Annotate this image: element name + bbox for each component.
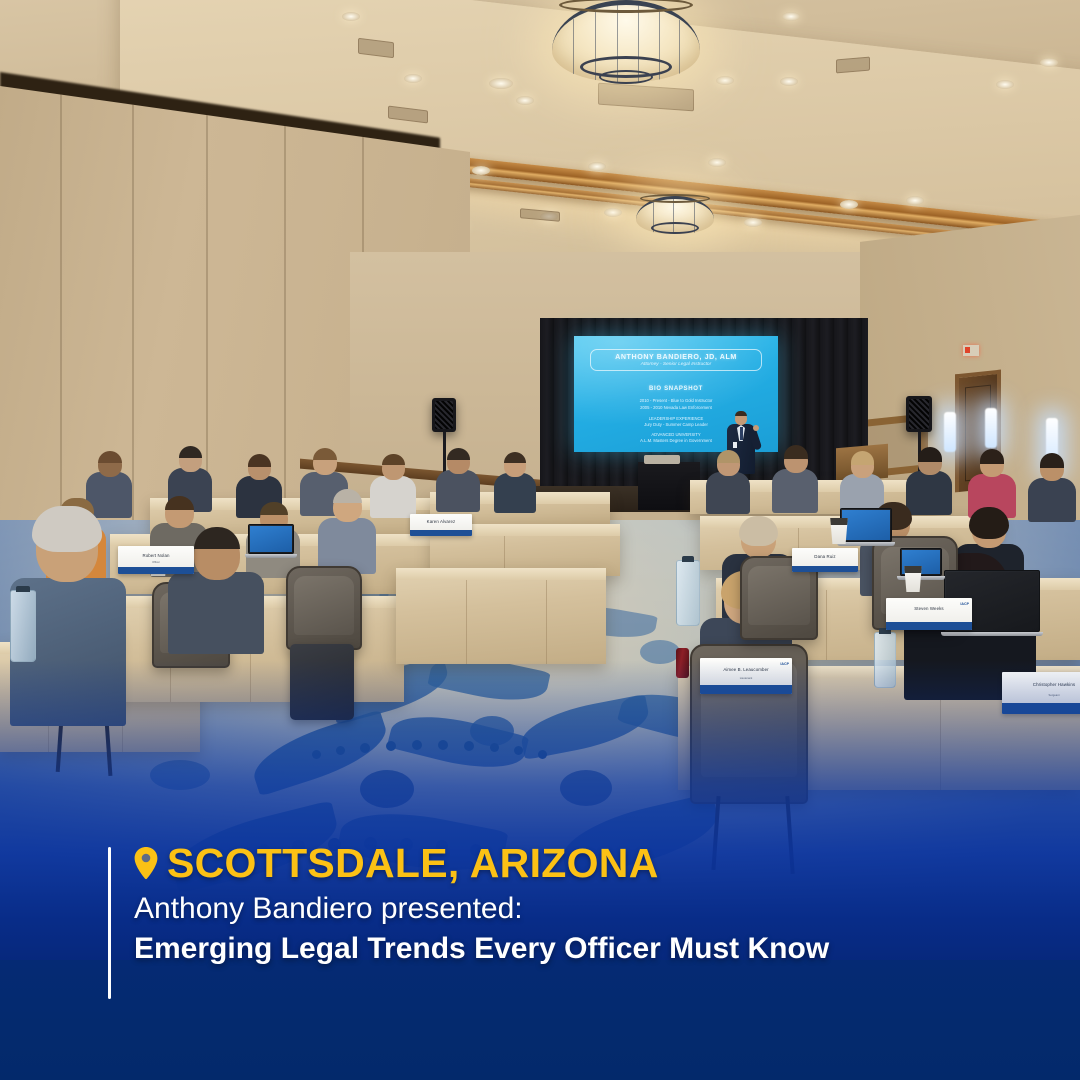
downlight-icon [782, 12, 800, 21]
name-tent-card: Karen Alvarez [410, 514, 472, 536]
downlight-icon [472, 166, 490, 175]
name-card-name: Karen Alvarez [410, 519, 472, 524]
slide-line: 2005 - 2010 Nevada Law Enforcement [574, 405, 778, 410]
location-row: SCOTTSDALE, ARIZONA [134, 843, 898, 884]
name-card-name: Robert Nolan [118, 553, 194, 558]
pa-speaker [906, 396, 932, 432]
downlight-icon [906, 196, 924, 205]
water-bottle [676, 560, 700, 626]
map-pin-icon [134, 847, 158, 880]
slide-title: ANTHONY BANDIERO, JD, ALM [593, 353, 759, 361]
attendee [318, 492, 376, 570]
attendee [772, 448, 818, 508]
attendee [840, 454, 884, 512]
accent-rule [108, 847, 111, 999]
banquet-table [396, 568, 606, 664]
attendee [1028, 456, 1076, 518]
slide-line: 2010 - Present - Blue to Gold Instructor [574, 398, 778, 403]
water-bottle [10, 590, 36, 662]
event-recap-card: ANTHONY BANDIERO, JD, ALM Attorney - Sen… [0, 0, 1080, 1080]
name-tent-card: IACP Christopher Hawkins Sergeant [1002, 672, 1080, 714]
name-card-name: Christopher Hawkins [1002, 682, 1080, 687]
pendant-top-ring [640, 194, 710, 203]
pa-speaker [432, 398, 456, 432]
wall-sconce-icon [944, 412, 956, 452]
pendant-finial-ring [599, 70, 653, 84]
ceiling-vent [836, 57, 870, 74]
name-card-name: Dana Ruiz [792, 554, 858, 559]
downlight-icon [404, 74, 422, 83]
slide-subtitle: Attorney - Senior Legal Instructor [593, 362, 759, 367]
name-card-name: Steven Weeks [886, 606, 972, 611]
downlight-icon [489, 78, 513, 89]
water-bottle [874, 632, 896, 688]
location-label: SCOTTSDALE, ARIZONA [167, 843, 659, 884]
pendant-light-small [636, 196, 714, 242]
downlight-icon [780, 77, 798, 86]
wall-sconce-icon [985, 408, 997, 448]
name-tent-card: IACP Steven Weeks [886, 598, 972, 630]
name-tent-card: Dana Ruiz [792, 548, 858, 572]
pendant-light-large [552, 0, 700, 96]
attendee [494, 454, 536, 510]
name-tent-card: IACP Aimee B. Leaucomber Lieutenant [700, 658, 792, 694]
attendee [968, 452, 1016, 514]
banquet-chair [286, 566, 362, 650]
soda-can [676, 648, 689, 678]
downlight-icon [1040, 58, 1058, 67]
name-tent-card: Robert Nolan Officer [118, 546, 194, 574]
name-card-name: Aimee B. Leaucomber [700, 667, 792, 672]
exit-sign-icon [963, 345, 979, 356]
downlight-icon [342, 12, 360, 21]
overlay-text-block: SCOTTSDALE, ARIZONA Anthony Bandiero pre… [108, 843, 898, 968]
name-card-sub: Lieutenant [700, 677, 792, 680]
downlight-icon [716, 76, 734, 85]
laptop[interactable] [248, 524, 294, 554]
attendee [436, 450, 480, 508]
attendee [906, 450, 952, 510]
attendee [370, 456, 416, 514]
downlight-icon [604, 208, 622, 217]
backpack [290, 644, 354, 720]
presenter-line: Anthony Bandiero presented: [134, 891, 898, 928]
laptop[interactable] [840, 508, 892, 542]
downlight-icon [588, 162, 606, 171]
downlight-icon [840, 200, 858, 209]
downlight-icon [516, 96, 534, 105]
name-card-sub: Sergeant [1002, 694, 1080, 697]
pendant-bottom-ring [651, 222, 699, 234]
downlight-icon [708, 158, 726, 167]
downlight-icon [996, 80, 1014, 89]
talk-title: Emerging Legal Trends Every Officer Must… [134, 930, 864, 968]
name-card-sub: Officer [118, 561, 194, 564]
attendee [706, 452, 750, 510]
slide-section-heading: BIO SNAPSHOT [574, 386, 778, 392]
slide-title-box: ANTHONY BANDIERO, JD, ALM Attorney - Sen… [590, 349, 762, 371]
downlight-icon [744, 218, 762, 227]
